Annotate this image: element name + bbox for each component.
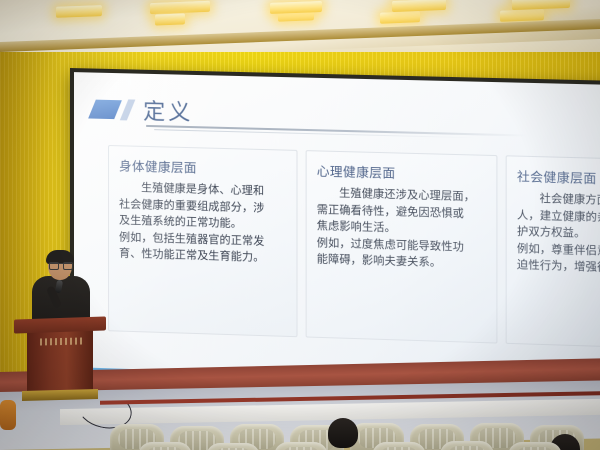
ceiling-light — [500, 9, 544, 22]
projection-screen: 定义 身体健康层面 生殖健康是身体、心理和 社会健康的重要组成部分，涉 及生殖系… — [74, 72, 600, 385]
content-cards: 身体健康层面 生殖健康是身体、心理和 社会健康的重要组成部分，涉 及生殖系统的正… — [108, 145, 600, 350]
card-heading: 社会健康层面 — [517, 166, 600, 190]
ceiling-light — [392, 0, 446, 12]
card-heading: 心理健康层面 — [317, 160, 486, 184]
card-heading: 身体健康层面 — [119, 155, 286, 179]
seat — [372, 442, 426, 450]
ceiling-light — [56, 5, 102, 18]
seat — [138, 442, 192, 450]
seat — [274, 442, 328, 450]
podium — [14, 318, 106, 410]
podium-base — [22, 389, 98, 401]
card-physical-health: 身体健康层面 生殖健康是身体、心理和 社会健康的重要组成部分，涉 及生殖系统的正… — [108, 145, 297, 337]
slide-title-row: 定义 — [92, 93, 193, 128]
ceiling-light — [270, 1, 322, 14]
decor-plant — [0, 400, 16, 430]
projection-screen-frame: 定义 身体健康层面 生殖健康是身体、心理和 社会健康的重要组成部分，涉 及生殖系… — [70, 68, 600, 401]
seat — [206, 443, 260, 450]
presentation-slide: 定义 身体健康层面 生殖健康是身体、心理和 社会健康的重要组成部分，涉 及生殖系… — [74, 72, 600, 385]
ceiling-light — [155, 13, 185, 25]
conference-hall-photo: 定义 身体健康层面 生殖健康是身体、心理和 社会健康的重要组成部分，涉 及生殖系… — [0, 0, 600, 450]
podium-lettering — [40, 337, 82, 345]
card-social-health: 社会健康层面 社会健康方面，需尊 人，建立健康的亲密关 护双方权益。 例如，尊重… — [506, 155, 600, 350]
card-line: 迫性行为，增强彼此信 — [517, 257, 600, 278]
title-accent-slash-icon — [120, 99, 136, 120]
title-accent-parallelogram-icon — [88, 99, 122, 118]
glasses-bridge-icon — [49, 263, 71, 269]
seat — [508, 442, 562, 450]
seat — [440, 441, 494, 450]
ceiling-light — [380, 11, 420, 24]
ceiling-light — [150, 1, 210, 14]
audience-seating — [110, 414, 600, 450]
audience-head — [328, 418, 358, 448]
slide-title: 定义 — [143, 94, 193, 127]
card-mental-health: 心理健康层面 生殖健康还涉及心理层面， 需正确看待性，避免因恐惧或 焦虑影响生活… — [306, 150, 498, 343]
